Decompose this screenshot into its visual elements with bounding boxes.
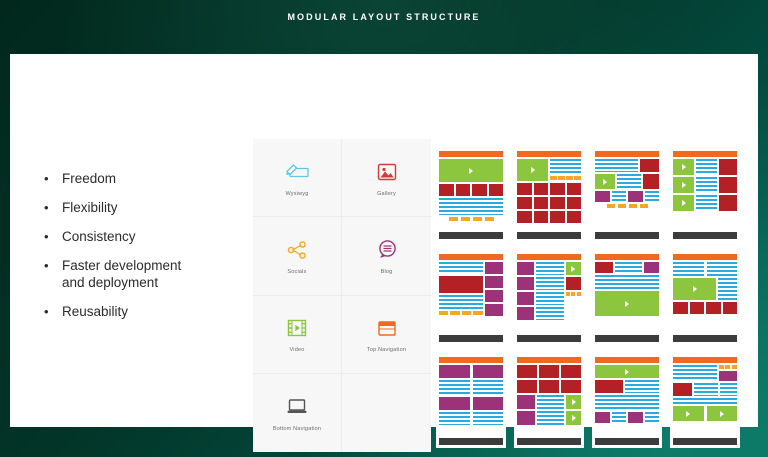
play-icon bbox=[572, 415, 576, 421]
thumb-footer-bar bbox=[517, 232, 581, 239]
thumb-image-block bbox=[595, 262, 613, 273]
module-cell-video[interactable]: Video bbox=[253, 296, 342, 374]
thumb-header-bar bbox=[595, 254, 659, 260]
layout-thumbnail[interactable] bbox=[670, 354, 740, 448]
socials-icon bbox=[286, 237, 308, 263]
thumb-video-block bbox=[673, 195, 694, 211]
thumb-text-block bbox=[645, 191, 660, 202]
thumb-text-block bbox=[673, 262, 704, 276]
thumb-text-block bbox=[439, 380, 470, 395]
layout-thumbnail[interactable] bbox=[670, 251, 740, 345]
thumb-video-block bbox=[439, 159, 503, 182]
thumb-accent-block bbox=[595, 412, 610, 423]
module-cell-empty bbox=[342, 374, 431, 452]
thumb-accent-block bbox=[628, 191, 643, 202]
thumb-text-block bbox=[439, 412, 470, 425]
thumb-text-block bbox=[439, 295, 483, 309]
bullet-marker: • bbox=[44, 257, 54, 274]
thumb-text-block bbox=[694, 383, 718, 396]
module-icon-grid: Wysiwyg Gallery bbox=[253, 139, 431, 452]
thumb-footer-bar bbox=[439, 335, 503, 342]
thumb-text-block bbox=[595, 275, 659, 289]
blog-icon bbox=[376, 237, 398, 263]
play-icon bbox=[682, 164, 686, 170]
layout-thumbnail[interactable] bbox=[436, 148, 506, 242]
page-title: MODULAR LAYOUT STRUCTURE bbox=[0, 12, 768, 22]
thumb-video-block bbox=[566, 395, 581, 409]
slide-root: MODULAR LAYOUT STRUCTURE • Freedom • Fle… bbox=[0, 0, 768, 457]
play-icon bbox=[571, 266, 575, 272]
thumb-footer-bar bbox=[595, 438, 659, 445]
layout-thumbnail[interactable] bbox=[670, 148, 740, 242]
thumb-text-block bbox=[536, 292, 563, 305]
thumb-accent-block bbox=[473, 397, 504, 410]
thumb-image-grid bbox=[517, 183, 581, 223]
thumb-image-row bbox=[673, 302, 737, 314]
list-item: • Faster development and deployment bbox=[44, 257, 244, 291]
thumb-text-block bbox=[696, 159, 717, 175]
thumb-video-block bbox=[673, 406, 704, 421]
play-icon bbox=[603, 179, 607, 185]
thumb-image-row bbox=[439, 184, 503, 196]
thumb-image-block bbox=[566, 277, 581, 290]
module-cell-blog[interactable]: Blog bbox=[342, 217, 431, 295]
thumb-image-block bbox=[643, 174, 659, 189]
layout-thumbnail[interactable] bbox=[592, 251, 662, 345]
wysiwyg-icon bbox=[284, 159, 310, 185]
thumb-video-block bbox=[673, 159, 694, 175]
list-item: • Reusability bbox=[44, 303, 244, 320]
thumb-footer-bar bbox=[595, 335, 659, 342]
module-cell-socials[interactable]: Socials bbox=[253, 217, 342, 295]
thumb-footer-bar bbox=[673, 335, 737, 342]
module-label: Gallery bbox=[377, 191, 396, 197]
thumb-header-bar bbox=[673, 151, 737, 157]
module-label: Top Navigation bbox=[367, 347, 406, 353]
list-item: • Freedom bbox=[44, 170, 244, 187]
play-icon bbox=[682, 200, 686, 206]
thumb-video-block bbox=[673, 278, 716, 300]
thumb-text-block bbox=[550, 159, 581, 174]
play-icon bbox=[720, 411, 724, 417]
top-navigation-icon bbox=[376, 315, 398, 341]
play-icon bbox=[686, 411, 690, 417]
thumb-image-row bbox=[517, 380, 581, 393]
layout-thumbnail[interactable] bbox=[436, 251, 506, 345]
list-item: • Flexibility bbox=[44, 199, 244, 216]
bullet-marker: • bbox=[44, 303, 54, 320]
layout-thumbnail[interactable] bbox=[592, 354, 662, 448]
thumb-text-block bbox=[536, 262, 563, 275]
thumb-video-block bbox=[595, 174, 615, 189]
thumb-text-block bbox=[707, 262, 738, 276]
thumb-video-block bbox=[673, 177, 694, 193]
bullet-marker: • bbox=[44, 228, 54, 245]
thumb-header-bar bbox=[517, 151, 581, 157]
thumb-header-bar bbox=[673, 357, 737, 363]
thumb-accent-block bbox=[628, 412, 643, 423]
thumb-accent-block bbox=[719, 371, 737, 381]
bullet-text: Consistency bbox=[62, 228, 136, 245]
thumb-text-block bbox=[673, 365, 717, 381]
module-cell-top-navigation[interactable]: Top Navigation bbox=[342, 296, 431, 374]
thumb-video-block bbox=[707, 406, 738, 421]
play-icon bbox=[531, 167, 535, 173]
bullet-text: Flexibility bbox=[62, 199, 118, 216]
play-icon bbox=[625, 301, 629, 307]
play-icon bbox=[572, 399, 576, 405]
thumb-text-block bbox=[625, 380, 659, 393]
thumb-text-block bbox=[439, 262, 483, 274]
thumb-accent-block bbox=[439, 365, 470, 378]
layout-thumbnail[interactable] bbox=[514, 148, 584, 242]
thumb-video-block bbox=[595, 365, 659, 378]
thumb-accent-block bbox=[473, 365, 504, 378]
bullet-text: Freedom bbox=[62, 170, 116, 187]
thumb-footer-bar bbox=[517, 438, 581, 445]
layout-thumbnail[interactable] bbox=[436, 354, 506, 448]
play-icon bbox=[625, 369, 629, 375]
module-label: Video bbox=[290, 347, 305, 353]
thumb-image-block bbox=[719, 195, 737, 211]
thumb-text-block bbox=[718, 278, 737, 300]
thumb-footer-bar bbox=[517, 335, 581, 342]
module-cell-wysiwyg[interactable]: Wysiwyg bbox=[253, 139, 342, 217]
thumb-header-bar bbox=[595, 151, 659, 157]
thumb-header-bar bbox=[673, 254, 737, 260]
play-icon bbox=[469, 168, 473, 174]
module-label: Blog bbox=[381, 269, 393, 275]
thumb-text-block bbox=[645, 412, 660, 423]
thumb-text-block bbox=[617, 174, 641, 189]
module-label: Wysiwyg bbox=[285, 191, 308, 197]
thumb-header-bar bbox=[439, 254, 503, 260]
thumb-footer-bar bbox=[439, 232, 503, 239]
video-icon bbox=[286, 315, 308, 341]
thumb-text-block bbox=[536, 307, 563, 320]
thumb-image-block bbox=[640, 159, 659, 172]
module-label: Socials bbox=[287, 269, 306, 275]
thumb-text-block bbox=[439, 198, 503, 215]
bullet-marker: • bbox=[44, 170, 54, 187]
thumb-text-block bbox=[720, 383, 737, 396]
thumb-image-row bbox=[517, 365, 581, 378]
thumb-accent-block bbox=[644, 262, 659, 273]
thumb-accent-column bbox=[485, 262, 503, 333]
thumb-header-bar bbox=[439, 357, 503, 363]
layout-thumbnail-grid bbox=[436, 148, 742, 448]
thumb-footer-bar bbox=[673, 438, 737, 445]
thumb-text-block bbox=[612, 191, 627, 202]
bullet-marker: • bbox=[44, 199, 54, 216]
gallery-icon bbox=[376, 159, 398, 185]
layout-thumbnail[interactable] bbox=[592, 148, 662, 242]
thumb-image-block bbox=[595, 380, 623, 393]
thumb-video-block bbox=[566, 262, 581, 275]
thumb-text-block bbox=[595, 395, 659, 410]
thumb-accent-block bbox=[439, 397, 470, 410]
thumb-button-row bbox=[439, 217, 503, 221]
thumb-text-block bbox=[595, 159, 638, 172]
thumb-image-block bbox=[439, 276, 483, 293]
thumb-text-block bbox=[473, 380, 504, 395]
thumb-text-block bbox=[536, 277, 563, 290]
module-cell-bottom-navigation[interactable]: Bottom Navigation bbox=[253, 374, 342, 452]
thumb-button-row bbox=[595, 204, 659, 208]
thumb-text-block bbox=[696, 195, 717, 211]
play-icon bbox=[693, 286, 697, 292]
thumb-text-block bbox=[696, 177, 717, 193]
thumb-text-block bbox=[612, 412, 627, 423]
thumb-text-block bbox=[537, 411, 564, 425]
layout-thumbnail[interactable] bbox=[514, 251, 584, 345]
list-item: • Consistency bbox=[44, 228, 244, 245]
bullet-text: Reusability bbox=[62, 303, 128, 320]
thumb-accent-block bbox=[595, 191, 610, 202]
thumb-image-block bbox=[719, 177, 737, 193]
thumb-video-block bbox=[595, 291, 659, 316]
bullet-list: • Freedom • Flexibility • Consistency • … bbox=[44, 170, 244, 332]
thumb-accent-block bbox=[517, 395, 535, 409]
thumb-text-block bbox=[673, 398, 737, 404]
bullet-text: Faster development and deployment bbox=[62, 257, 181, 291]
thumb-accent-column bbox=[517, 262, 534, 333]
thumb-image-block bbox=[719, 159, 737, 175]
thumb-image-block bbox=[673, 383, 692, 396]
thumb-header-bar bbox=[439, 151, 503, 157]
thumb-accent-block bbox=[517, 411, 535, 425]
thumb-header-bar bbox=[595, 357, 659, 363]
thumb-footer-bar bbox=[439, 438, 503, 445]
play-icon bbox=[682, 182, 686, 188]
thumb-header-bar bbox=[517, 254, 581, 260]
thumb-text-block bbox=[537, 395, 564, 409]
module-cell-gallery[interactable]: Gallery bbox=[342, 139, 431, 217]
bottom-navigation-icon bbox=[285, 394, 309, 420]
layout-thumbnail[interactable] bbox=[514, 354, 584, 448]
thumb-footer-bar bbox=[673, 232, 737, 239]
thumb-video-block bbox=[566, 411, 581, 425]
thumb-header-bar bbox=[517, 357, 581, 363]
content-card: • Freedom • Flexibility • Consistency • … bbox=[10, 54, 758, 427]
module-label: Bottom Navigation bbox=[273, 426, 321, 432]
thumb-text-block bbox=[473, 412, 504, 425]
thumb-text-block bbox=[615, 262, 642, 273]
thumb-video-block bbox=[517, 159, 548, 181]
thumb-footer-bar bbox=[595, 232, 659, 239]
